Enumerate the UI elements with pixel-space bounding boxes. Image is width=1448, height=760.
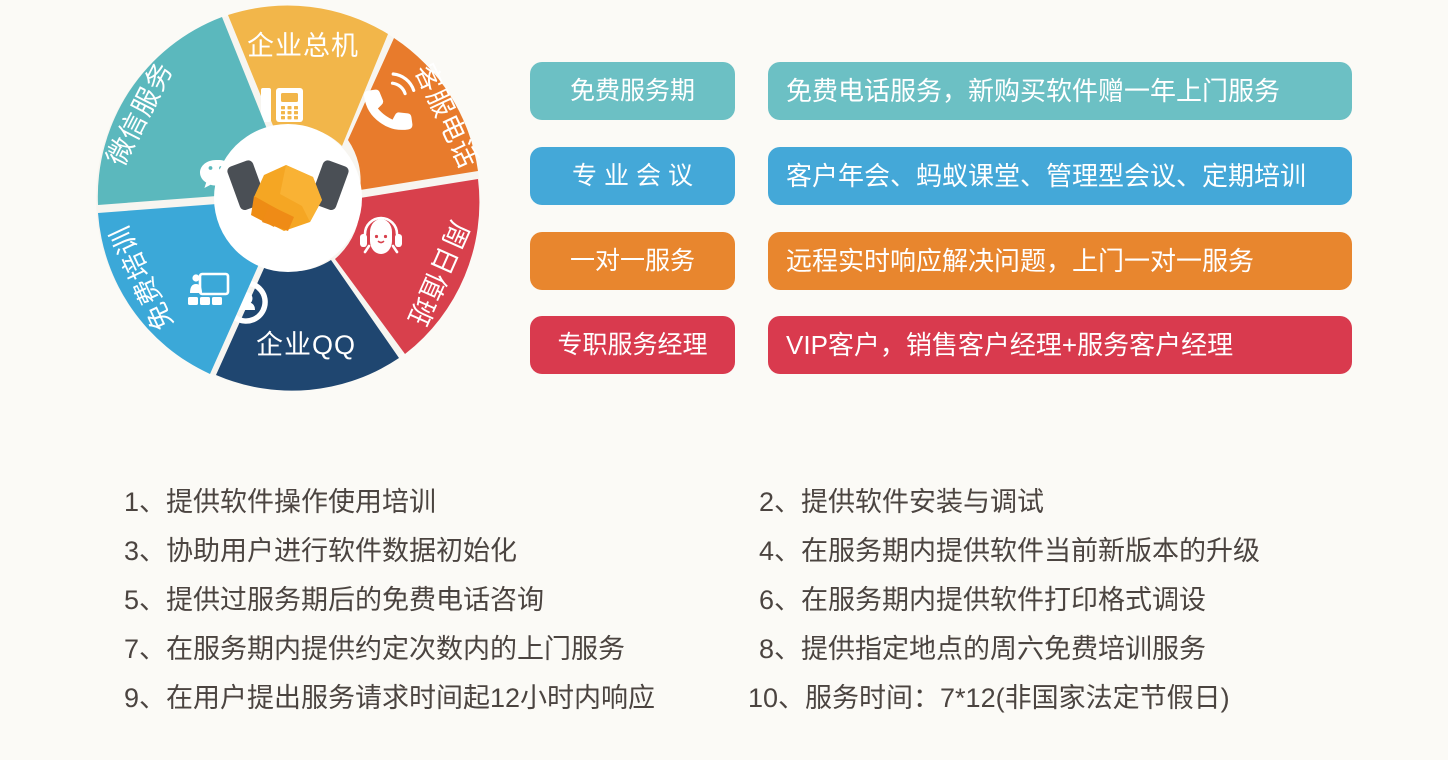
list-item: 1、提供软件操作使用培训 xyxy=(124,478,724,527)
row-content-text-0: 免费电话服务，新购买软件赠一年上门服务 xyxy=(786,78,1280,104)
row-label-badge-2[interactable]: 一对一服务 xyxy=(530,232,735,290)
list-item: 6、在服务期内提供软件打印格式调设 xyxy=(748,576,1368,625)
row-label-text-3: 专职服务经理 xyxy=(557,333,707,358)
table-row: 一对一服务 远程实时响应解决问题，上门一对一服务 xyxy=(530,232,1352,290)
list-item: 3、协助用户进行软件数据初始化 xyxy=(124,527,724,576)
wheel-segment-label-3: 企业QQ xyxy=(256,330,356,360)
row-label-badge-3[interactable]: 专职服务经理 xyxy=(530,316,735,374)
service-table: 免费服务期 免费电话服务，新购买软件赠一年上门服务 专业会议 客户年会、蚂蚁课堂… xyxy=(530,62,1352,374)
table-row: 专职服务经理 VIP客户，销售客户经理+服务客户经理 xyxy=(530,316,1352,374)
list-item: 10、服务时间：7*12(非国家法定节假日) xyxy=(748,674,1368,723)
row-content-text-2: 远程实时响应解决问题，上门一对一服务 xyxy=(786,248,1254,274)
row-content-box-0[interactable]: 免费电话服务，新购买软件赠一年上门服务 xyxy=(768,62,1352,120)
list-item: 9、在用户提出服务请求时间起12小时内响应 xyxy=(124,674,724,723)
page-root: 企业总机 xyxy=(0,0,1448,760)
list-item: 7、在服务期内提供约定次数内的上门服务 xyxy=(124,625,724,674)
list-item: 2、提供软件安装与调试 xyxy=(748,478,1368,527)
service-list-left-column: 1、提供软件操作使用培训 3、协助用户进行软件数据初始化 5、提供过服务期后的免… xyxy=(124,478,724,723)
table-row: 免费服务期 免费电话服务，新购买软件赠一年上门服务 xyxy=(530,62,1352,120)
row-label-badge-1[interactable]: 专业会议 xyxy=(530,147,735,205)
list-item: 5、提供过服务期后的免费电话咨询 xyxy=(124,576,724,625)
row-content-box-2[interactable]: 远程实时响应解决问题，上门一对一服务 xyxy=(768,232,1352,290)
service-list-right-column: 2、提供软件安装与调试 4、在服务期内提供软件当前新版本的升级 6、在服务期内提… xyxy=(748,478,1368,723)
row-content-box-3[interactable]: VIP客户，销售客户经理+服务客户经理 xyxy=(768,316,1352,374)
desk-phone-icon xyxy=(261,88,303,122)
row-content-text-1: 客户年会、蚂蚁课堂、管理型会议、定期培训 xyxy=(786,163,1306,189)
service-wheel-diagram: 企业总机 xyxy=(80,0,500,400)
list-item: 4、在服务期内提供软件当前新版本的升级 xyxy=(748,527,1368,576)
table-row: 专业会议 客户年会、蚂蚁课堂、管理型会议、定期培训 xyxy=(530,147,1352,205)
list-item: 8、提供指定地点的周六免费培训服务 xyxy=(748,625,1368,674)
row-label-text-0: 免费服务期 xyxy=(570,79,695,104)
row-label-text-1: 专业会议 xyxy=(572,164,700,189)
service-commitment-list: 1、提供软件操作使用培训 3、协助用户进行软件数据初始化 5、提供过服务期后的免… xyxy=(0,478,1448,748)
row-content-box-1[interactable]: 客户年会、蚂蚁课堂、管理型会议、定期培训 xyxy=(768,147,1352,205)
wheel-segment-label-0: 企业总机 xyxy=(247,31,359,61)
row-content-text-3: VIP客户，销售客户经理+服务客户经理 xyxy=(786,332,1233,358)
wheel-svg: 企业总机 xyxy=(80,0,500,400)
row-label-badge-0[interactable]: 免费服务期 xyxy=(530,62,735,120)
row-label-text-2: 一对一服务 xyxy=(570,249,695,274)
